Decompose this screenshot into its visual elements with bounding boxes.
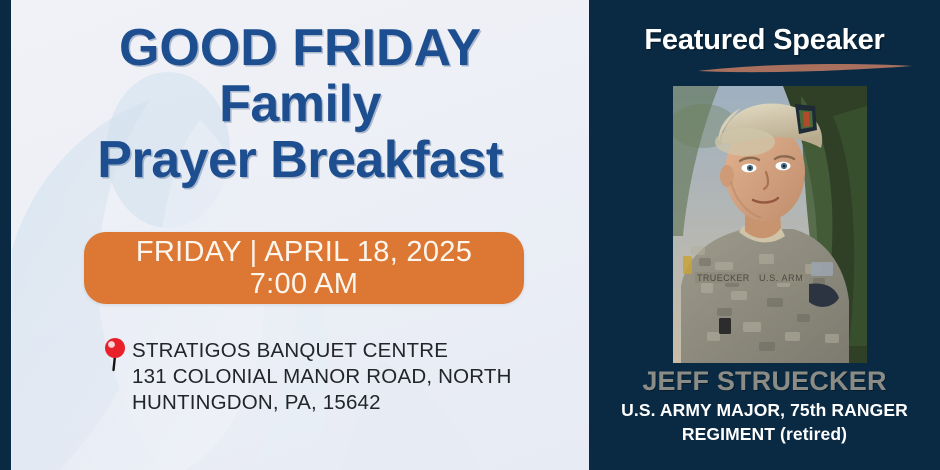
title-line-3: Prayer Breakfast: [11, 134, 589, 187]
featured-speaker-label: Featured Speaker: [589, 24, 940, 57]
speaker-name: JEFF STRUECKER: [589, 366, 940, 397]
speaker-role-line-2: REGIMENT (retired): [589, 422, 940, 446]
venue-name: STRATIGOS BANQUET CENTRE: [132, 338, 512, 364]
speaker-role-line-1: U.S. ARMY MAJOR, 75th RANGER: [589, 398, 940, 422]
right-panel: Featured Speaker: [589, 0, 940, 470]
title-line-1: GOOD FRIDAY: [11, 22, 589, 75]
left-edge-strip: [0, 0, 11, 470]
brush-stroke-underline-icon: [695, 60, 915, 76]
speaker-role: U.S. ARMY MAJOR, 75th RANGER REGIMENT (r…: [589, 398, 940, 446]
event-title: GOOD FRIDAY Family Prayer Breakfast: [11, 22, 589, 187]
time-text: 7:00 AM: [250, 268, 359, 300]
address-street: 131 COLONIAL MANOR ROAD, NORTH: [132, 364, 512, 390]
map-pin-icon: [100, 337, 130, 377]
svg-text:U.S. ARM: U.S. ARM: [759, 273, 803, 283]
speaker-photo: TRUECKER U.S. ARM: [673, 86, 867, 363]
date-time-banner: FRIDAY | APRIL 18, 2025 7:00 AM: [84, 232, 524, 304]
date-text: FRIDAY | APRIL 18, 2025: [136, 236, 472, 268]
address-city-state-zip: HUNTINGDON, PA, 15642: [132, 390, 512, 416]
event-flyer: GOOD FRIDAY Family Prayer Breakfast FRID…: [0, 0, 940, 470]
title-line-2: Family: [11, 78, 589, 131]
svg-text:TRUECKER: TRUECKER: [697, 273, 750, 283]
left-panel: GOOD FRIDAY Family Prayer Breakfast FRID…: [0, 0, 589, 470]
venue-address: STRATIGOS BANQUET CENTRE 131 COLONIAL MA…: [100, 336, 530, 415]
address-lines: STRATIGOS BANQUET CENTRE 131 COLONIAL MA…: [132, 336, 512, 415]
